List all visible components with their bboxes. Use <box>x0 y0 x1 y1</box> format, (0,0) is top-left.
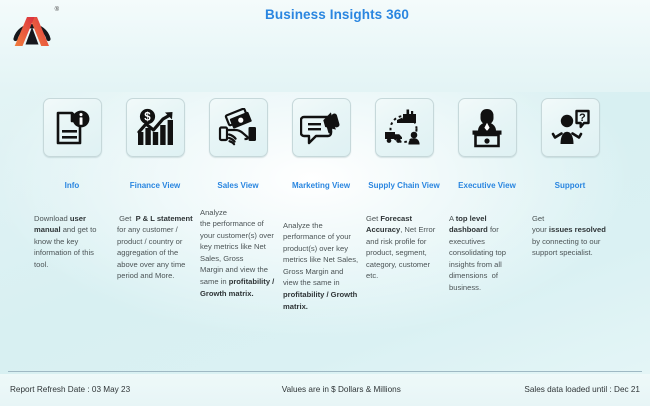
page-title: Business Insights 360 <box>0 7 650 22</box>
speech-bubble-megaphone-icon <box>300 108 342 148</box>
svg-text:?: ? <box>579 112 586 124</box>
card-desc-support: Getyour issues resolved by connecting to… <box>532 213 608 259</box>
card-support[interactable]: ? Support Getyour issues resolved by con… <box>532 98 608 259</box>
card-label-supply-chain-view: Supply Chain View <box>368 182 439 191</box>
dashboard-home-page: ® Business Insights 360 Info Download us… <box>0 0 650 406</box>
tile-marketing-view[interactable] <box>292 98 351 157</box>
card-label-executive-view: Executive View <box>458 182 516 191</box>
tile-info[interactable] <box>43 98 102 157</box>
card-finance-view[interactable]: $ Finance View Get P & L statement for a… <box>117 98 193 282</box>
tile-supply-chain-view[interactable] <box>375 98 434 157</box>
sales-data-loaded-until: Sales data loaded until : Dec 21 <box>524 385 640 394</box>
card-supply-chain-view[interactable]: Supply Chain View Get Forecast Accuracy,… <box>366 98 442 282</box>
card-label-support: Support <box>555 182 586 191</box>
report-refresh-date: Report Refresh Date : 03 May 23 <box>10 385 130 394</box>
card-desc-finance-view: Get P & L statement for any customer / p… <box>117 213 193 282</box>
tile-executive-view[interactable] <box>458 98 517 157</box>
tile-sales-view[interactable] <box>209 98 268 157</box>
document-info-icon <box>52 108 92 148</box>
tile-support[interactable]: ? <box>541 98 600 157</box>
person-question-mark-icon: ? <box>549 108 591 148</box>
card-label-info: Info <box>65 182 80 191</box>
card-desc-executive-view: A top level dashboard for executives con… <box>449 213 525 294</box>
footer-divider <box>8 371 642 372</box>
card-desc-info: Download user manual and get to know the… <box>34 213 110 271</box>
footer-bar: Report Refresh Date : 03 May 23 Values a… <box>0 374 650 406</box>
card-label-marketing-view: Marketing View <box>292 182 350 191</box>
card-sales-view[interactable]: Sales View Analyzethe performance of you… <box>200 98 276 299</box>
tile-finance-view[interactable]: $ <box>126 98 185 157</box>
card-desc-marketing-view: Analyze the performance of your product(… <box>283 220 359 312</box>
factory-truck-customer-cycle-icon <box>383 108 425 148</box>
bar-chart-dollar-growth-icon: $ <box>134 108 176 148</box>
card-executive-view[interactable]: Executive View A top level dashboard for… <box>449 98 525 294</box>
executive-podium-icon <box>466 108 508 148</box>
card-label-finance-view: Finance View <box>130 182 181 191</box>
card-desc-sales-view: Analyzethe performance of your customer(… <box>200 207 276 299</box>
card-info[interactable]: Info Download user manual and get to kno… <box>34 98 110 270</box>
card-desc-supply-chain-view: Get Forecast Accuracy, Net Error and ris… <box>366 213 442 282</box>
card-label-sales-view: Sales View <box>217 182 258 191</box>
card-marketing-view[interactable]: Marketing View Analyze the performance o… <box>283 98 359 312</box>
svg-text:$: $ <box>144 111 151 123</box>
handshake-money-icon <box>217 108 259 148</box>
values-units-note: Values are in $ Dollars & Millions <box>282 385 401 394</box>
navigation-cards: Info Download user manual and get to kno… <box>34 98 624 312</box>
